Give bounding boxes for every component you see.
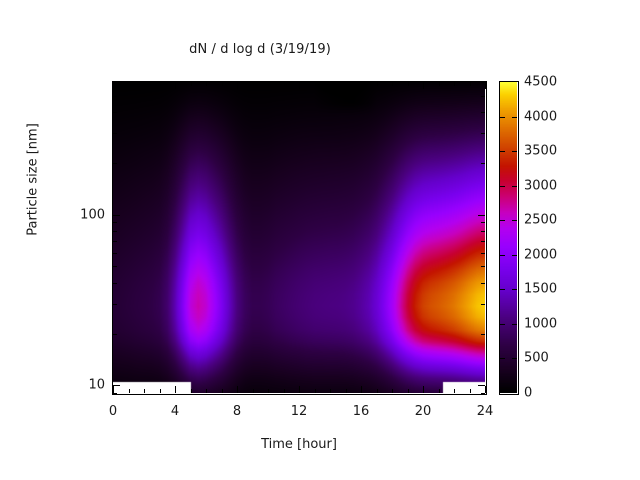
x-tick-top	[377, 82, 378, 86]
x-tick-top	[454, 82, 455, 86]
y-tick-right	[481, 334, 485, 335]
y-tick-right	[481, 241, 485, 242]
y-tick-right	[481, 231, 485, 232]
y-tick	[113, 163, 117, 164]
x-tick-top	[113, 82, 114, 89]
x-tick	[222, 389, 223, 393]
y-tick	[113, 283, 117, 284]
colorbar-tick	[512, 358, 517, 359]
y-tick-label: 100	[65, 207, 105, 222]
x-tick-top	[299, 82, 300, 89]
x-tick	[485, 386, 486, 393]
x-tick	[284, 389, 285, 393]
x-tick-label: 8	[233, 404, 241, 419]
x-tick	[206, 389, 207, 393]
x-tick	[392, 389, 393, 393]
y-tick-label: 10	[65, 378, 105, 393]
x-tick-top	[330, 82, 331, 86]
x-tick-label: 16	[353, 404, 370, 419]
x-tick	[377, 389, 378, 393]
colorbar-tick-label: 4500	[524, 75, 557, 90]
x-tick	[439, 389, 440, 393]
x-tick-top	[485, 82, 486, 89]
x-tick	[361, 386, 362, 393]
x-tick	[191, 389, 192, 393]
heatmap-canvas	[113, 82, 485, 393]
y-tick-right	[481, 96, 485, 97]
y-tick-right	[481, 222, 485, 223]
x-tick-top	[315, 82, 316, 86]
x-tick-top	[222, 82, 223, 86]
x-tick	[129, 389, 130, 393]
y-axis-title: Particle size [nm]	[26, 95, 41, 265]
colorbar-tick	[500, 117, 505, 118]
y-tick	[113, 215, 120, 216]
y-tick	[113, 304, 117, 305]
colorbar-tick	[500, 324, 505, 325]
x-tick	[253, 389, 254, 393]
y-tick-right	[478, 385, 485, 386]
colorbar-tick-label: 1500	[524, 282, 557, 297]
x-tick-top	[423, 82, 424, 89]
x-tick-top	[346, 82, 347, 86]
x-tick-label: 4	[171, 404, 179, 419]
colorbar-tick	[500, 358, 505, 359]
x-tick-top	[129, 82, 130, 86]
colorbar-tick	[512, 324, 517, 325]
x-tick-label: 12	[291, 404, 308, 419]
x-tick	[454, 389, 455, 393]
colorbar-tick-label: 2500	[524, 213, 557, 228]
y-tick	[113, 385, 120, 386]
x-tick-top	[361, 82, 362, 89]
x-tick-label: 20	[415, 404, 432, 419]
colorbar-tick-label: 0	[524, 386, 532, 401]
x-tick-top	[206, 82, 207, 86]
colorbar-tick	[500, 289, 505, 290]
x-tick	[160, 389, 161, 393]
x-tick-top	[284, 82, 285, 86]
colorbar-tick	[500, 220, 505, 221]
x-tick	[423, 386, 424, 393]
y-tick-right	[481, 163, 485, 164]
y-tick-right	[481, 393, 485, 394]
colorbar-tick	[512, 117, 517, 118]
x-tick	[315, 389, 316, 393]
y-tick	[113, 231, 117, 232]
colorbar-tick-label: 500	[524, 351, 549, 366]
x-tick	[346, 389, 347, 393]
colorbar-tick-label: 1000	[524, 316, 557, 331]
x-tick	[299, 386, 300, 393]
y-tick-right	[481, 283, 485, 284]
x-tick-label: 0	[109, 404, 117, 419]
y-tick-right	[478, 215, 485, 216]
y-tick-right	[481, 133, 485, 134]
x-tick-top	[439, 82, 440, 86]
colorbar-tick	[512, 220, 517, 221]
colorbar-tick	[512, 151, 517, 152]
chart-title: dN / d log d (3/19/19)	[0, 42, 520, 57]
y-tick-right	[481, 82, 485, 83]
y-tick-right	[481, 266, 485, 267]
y-tick-right	[481, 304, 485, 305]
x-tick-top	[253, 82, 254, 86]
colorbar-gradient	[500, 82, 517, 393]
y-tick	[113, 96, 117, 97]
y-tick	[113, 222, 117, 223]
colorbar-tick	[500, 255, 505, 256]
x-tick-label: 24	[477, 404, 494, 419]
colorbar-tick	[500, 186, 505, 187]
x-tick	[268, 389, 269, 393]
y-tick	[113, 133, 117, 134]
colorbar-tick	[512, 255, 517, 256]
x-axis-title: Time [hour]	[113, 437, 485, 452]
y-tick	[113, 241, 117, 242]
x-tick-top	[408, 82, 409, 86]
x-tick	[113, 386, 114, 393]
y-tick	[113, 334, 117, 335]
colorbar-tick	[512, 186, 517, 187]
x-tick-top	[191, 82, 192, 86]
x-tick	[330, 389, 331, 393]
x-tick-top	[268, 82, 269, 86]
colorbar-tick-label: 3000	[524, 178, 557, 193]
y-tick	[113, 253, 117, 254]
colorbar-tick-label: 2000	[524, 247, 557, 262]
x-tick	[175, 386, 176, 393]
x-tick-top	[160, 82, 161, 86]
y-tick	[113, 266, 117, 267]
y-tick-right	[481, 253, 485, 254]
colorbar-tick-label: 4000	[524, 109, 557, 124]
x-tick	[470, 389, 471, 393]
x-tick	[408, 389, 409, 393]
y-tick	[113, 112, 117, 113]
x-tick	[144, 389, 145, 393]
colorbar-tick-label: 3500	[524, 144, 557, 159]
x-tick-top	[144, 82, 145, 86]
colorbar-tick	[500, 151, 505, 152]
y-tick	[113, 82, 117, 83]
x-tick-top	[175, 82, 176, 89]
x-tick-top	[392, 82, 393, 86]
chart-root: dN / d log d (3/19/19) 04812162024 10100…	[0, 0, 640, 480]
y-tick-right	[481, 112, 485, 113]
y-tick	[113, 393, 117, 394]
x-tick-top	[237, 82, 238, 89]
x-tick-top	[470, 82, 471, 86]
x-tick	[237, 386, 238, 393]
colorbar-tick	[512, 289, 517, 290]
